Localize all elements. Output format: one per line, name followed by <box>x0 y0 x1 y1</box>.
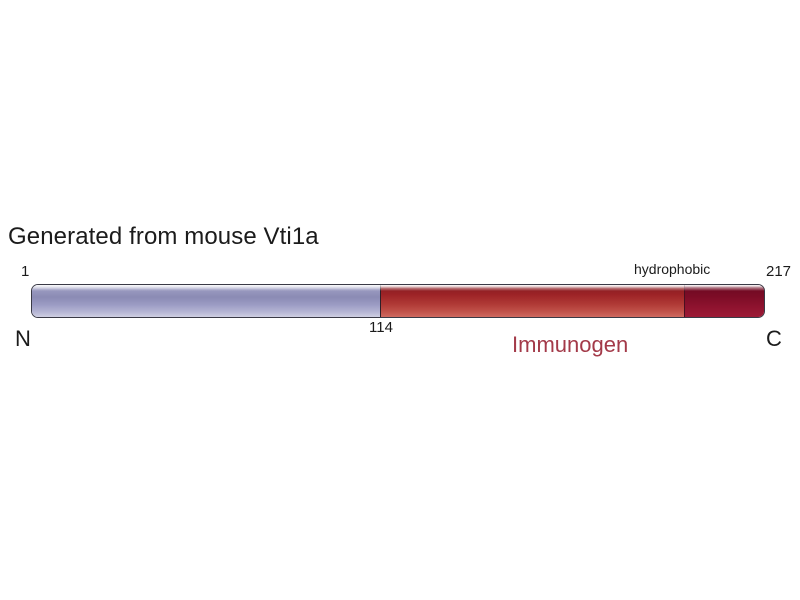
protein-bar <box>31 284 765 318</box>
c-terminus-label: C <box>766 327 782 351</box>
protein-domain-figure: Generated from mouse Vti1a 1 hydrophobic… <box>0 0 800 600</box>
segment-n-terminal-region <box>32 285 380 317</box>
residue-end-label: 217 <box>766 264 791 280</box>
immunogen-label: Immunogen <box>512 332 628 358</box>
figure-title: Generated from mouse Vti1a <box>8 223 319 251</box>
residue-114-divider <box>380 285 381 317</box>
hydrophobic-label: hydrophobic <box>634 261 710 277</box>
n-terminus-label: N <box>15 327 31 351</box>
residue-start-label: 1 <box>21 264 29 280</box>
residue-boundary-label: 114 <box>369 320 393 336</box>
segment-hydrophobic-region <box>684 285 764 317</box>
